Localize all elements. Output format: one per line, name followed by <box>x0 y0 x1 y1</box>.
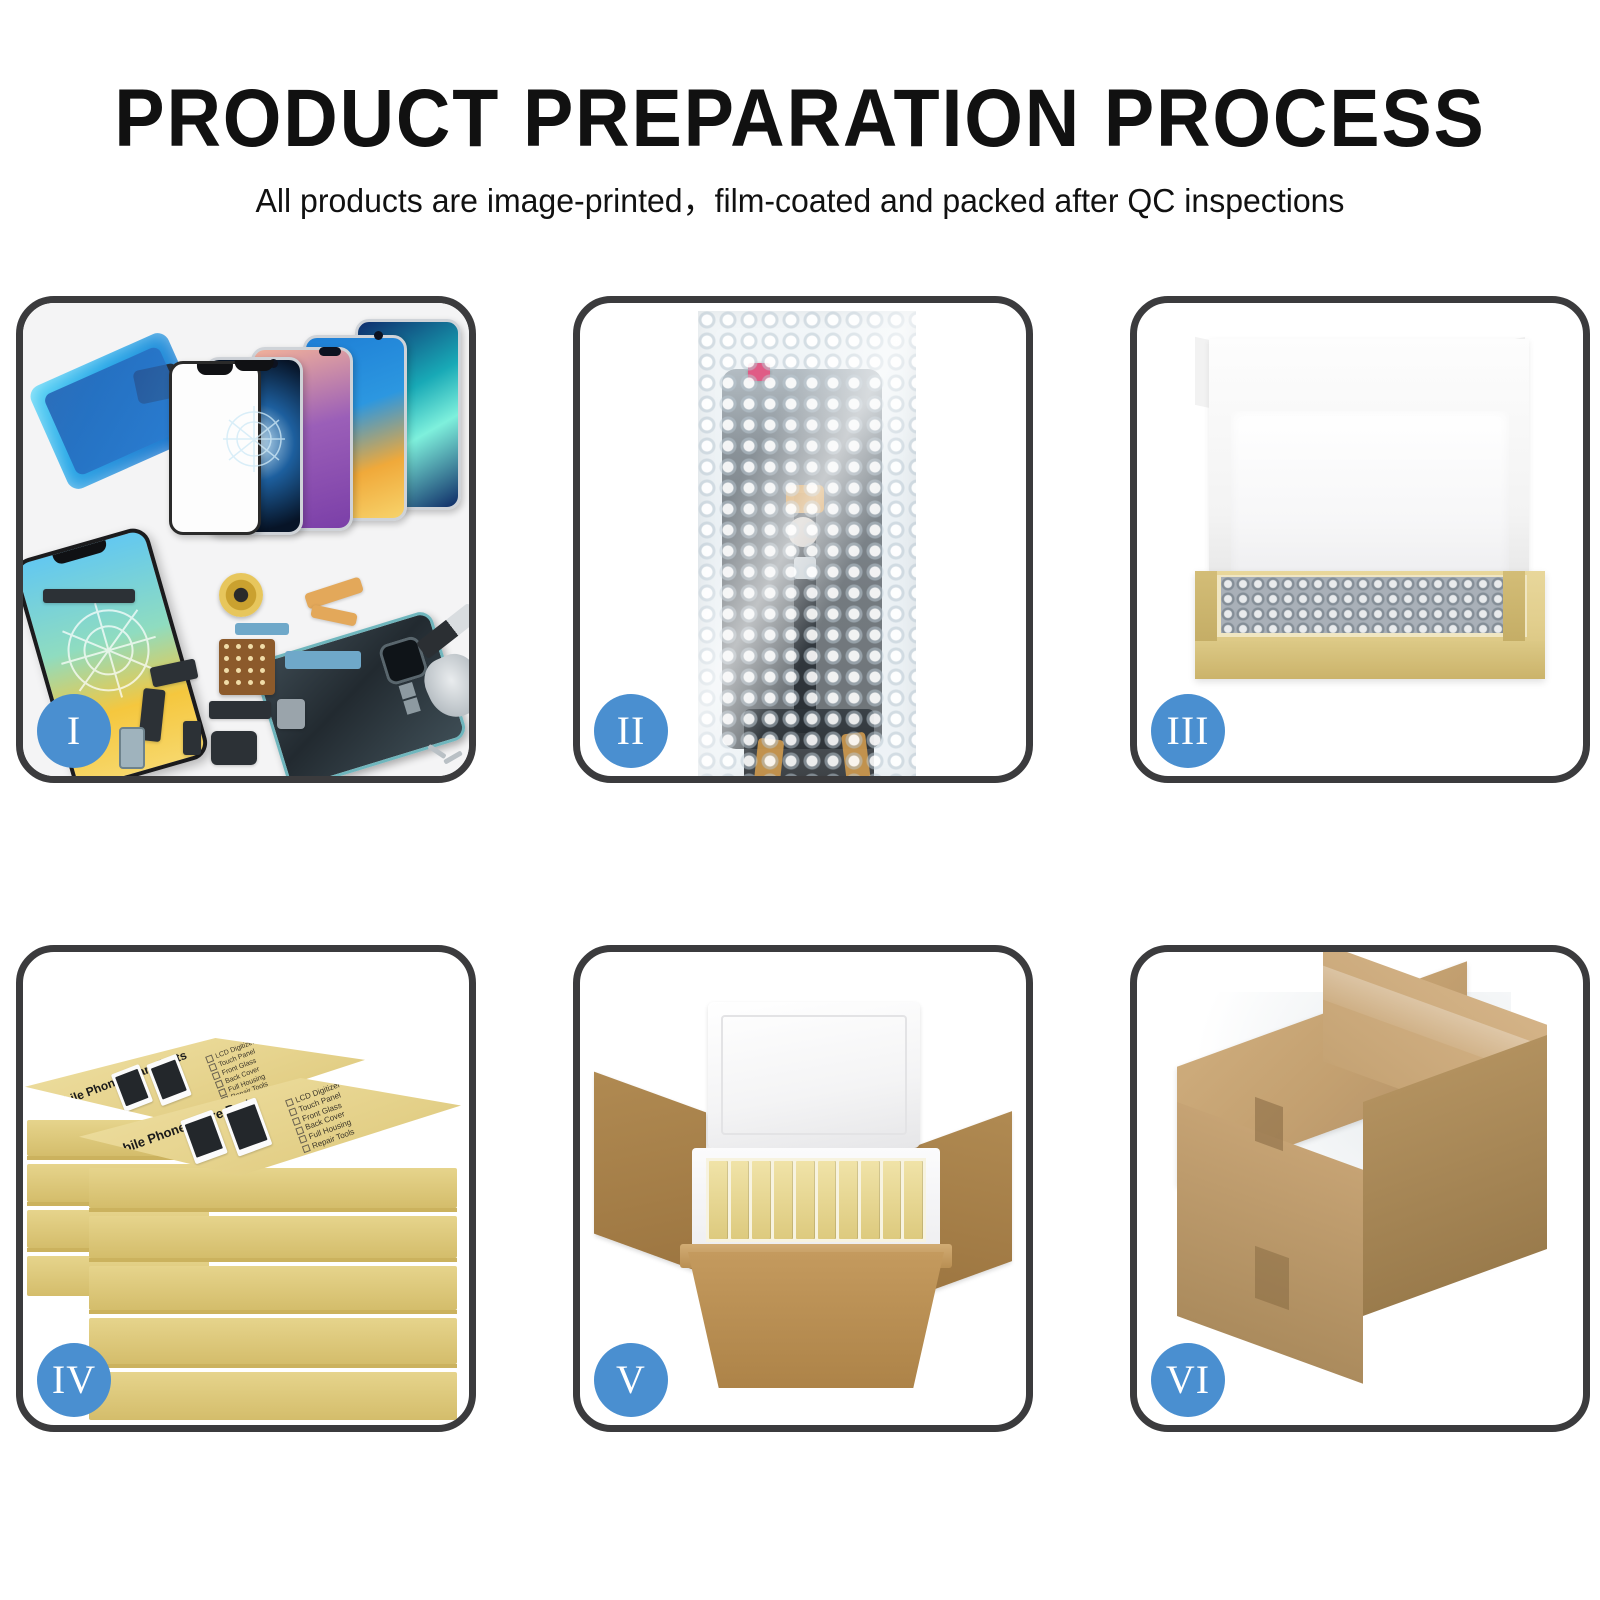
earpiece-mesh-part <box>43 589 135 603</box>
step-badge-1: I <box>37 694 111 768</box>
step-badge-5: V <box>594 1343 668 1417</box>
phone-lineup <box>173 315 469 525</box>
small-flex-cable <box>235 623 289 635</box>
bubble-wrapped-contents <box>1221 577 1521 633</box>
step-badge-2: II <box>594 694 668 768</box>
step-badge-3: III <box>1151 694 1225 768</box>
foam-sheet <box>1231 411 1509 591</box>
step-panel-4: Mobile Phone Spare Parts LCD Digitizer T… <box>16 945 476 1432</box>
box-phone-image <box>222 1097 273 1156</box>
foam-lid <box>708 1002 920 1148</box>
carton-body <box>688 1252 944 1388</box>
cracked-glass-icon <box>217 402 291 476</box>
header: PRODUCT PREPARATION PROCESS All products… <box>0 0 1600 217</box>
step-panel-1: I <box>16 296 476 783</box>
wireless-charging-coil <box>219 573 263 617</box>
volume-flex-cable <box>285 651 361 669</box>
gold-boxes-inside <box>706 1158 926 1242</box>
step-badge-6: VI <box>1151 1343 1225 1417</box>
antenna-part <box>183 721 201 755</box>
step-badge-4: IV <box>37 1343 111 1417</box>
vibrator-part <box>209 701 271 719</box>
speaker-module-part <box>211 731 257 765</box>
sim-tray-part <box>119 727 145 769</box>
step-panel-6: VI <box>1130 945 1590 1432</box>
step-panel-3: III <box>1130 296 1590 783</box>
step-panel-2: II <box>573 296 1033 783</box>
page-title: PRODUCT PREPARATION PROCESS <box>64 0 1536 160</box>
infographic-page: PRODUCT PREPARATION PROCESS All products… <box>0 0 1600 1600</box>
screwdriver-tools <box>427 743 469 769</box>
process-step-grid: I II <box>16 296 1591 1432</box>
ic-chip <box>219 639 275 695</box>
bubble-wrap-sleeve <box>698 311 916 776</box>
page-subtitle: All products are image-printed，film-coat… <box>24 160 1576 217</box>
step-panel-5: V <box>573 945 1033 1432</box>
loudspeaker-part <box>277 699 305 729</box>
box-checklist: LCD Digitizer Touch Panel Front Glass Ba… <box>285 1080 359 1155</box>
